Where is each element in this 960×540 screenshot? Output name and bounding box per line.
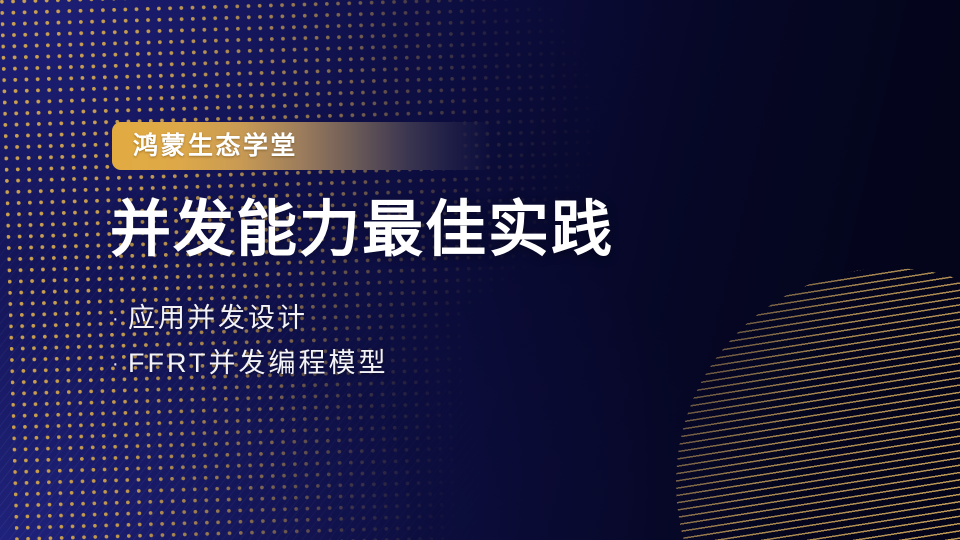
slide-content: 鸿蒙生态学堂 并发能力最佳实践 · 应用并发设计 · FFRT并发编程模型 (112, 0, 872, 540)
course-series-badge-label: 鸿蒙生态学堂 (133, 134, 298, 159)
list-item: · 应用并发设计 (112, 303, 389, 334)
list-item: · FFRT并发编程模型 (112, 348, 389, 379)
bullet-dot-icon: · (112, 309, 128, 329)
bullet-item-label: 应用并发设计 (128, 303, 308, 334)
bullet-item-label: FFRT并发编程模型 (128, 348, 389, 379)
slide-title: 并发能力最佳实践 (110, 197, 614, 263)
course-series-badge: 鸿蒙生态学堂 (112, 122, 492, 170)
bullet-dot-icon: · (112, 354, 128, 374)
presentation-slide: 鸿蒙生态学堂 并发能力最佳实践 · 应用并发设计 · FFRT并发编程模型 (0, 0, 960, 540)
slide-bullet-list: · 应用并发设计 · FFRT并发编程模型 (112, 303, 389, 379)
